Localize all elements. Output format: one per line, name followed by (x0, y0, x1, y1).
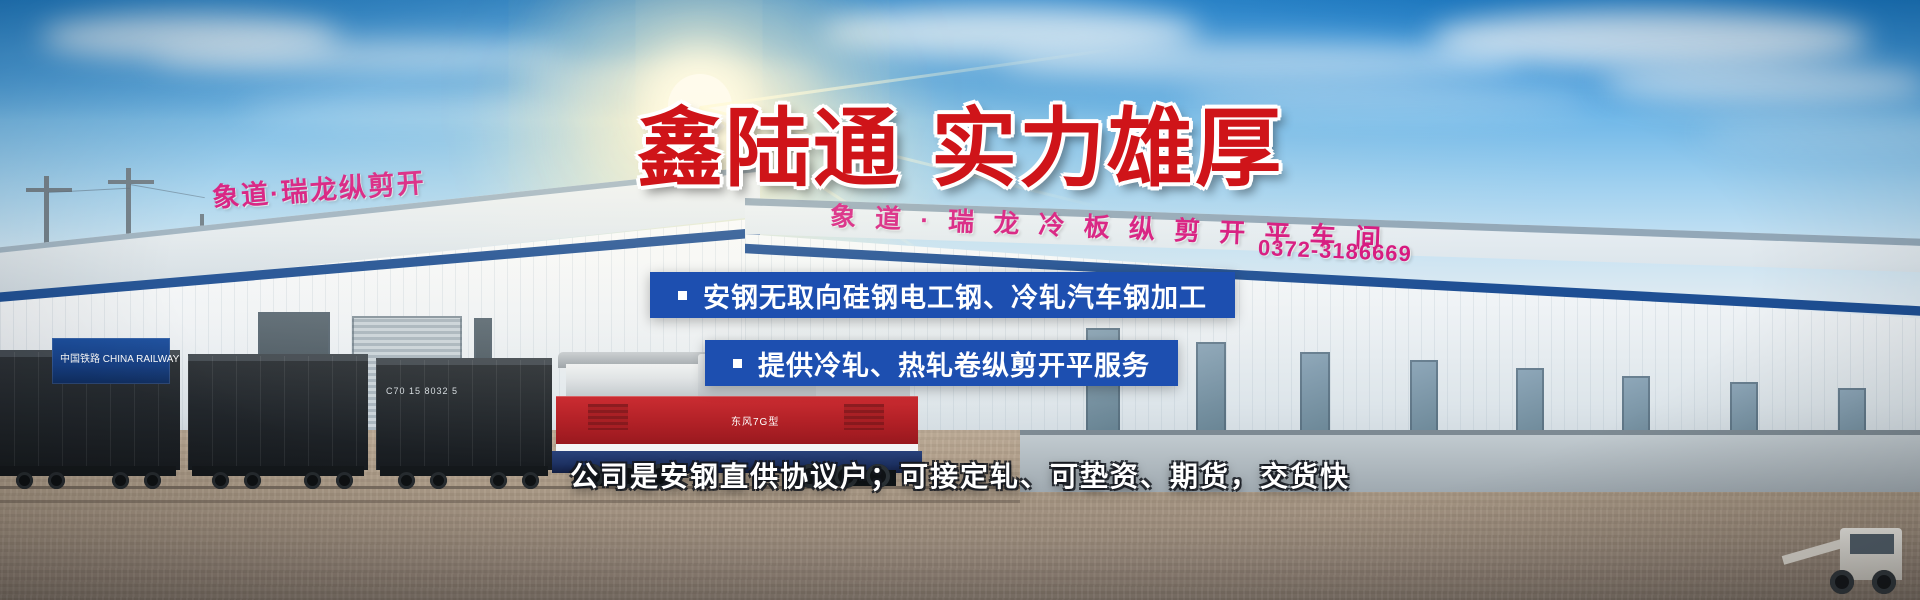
wagon-label: 中国铁路 CHINA RAILWAY (60, 350, 179, 365)
feature-callout-2-text: 提供冷轧、热轧卷纵剪开平服务 (758, 344, 1150, 383)
service-vehicle (1782, 516, 1902, 594)
feature-callout-1-text: 安钢无取向硅钢电工钢、冷轧汽车钢加工 (703, 276, 1207, 315)
feature-callout-1: 安钢无取向硅钢电工钢、冷轧汽车钢加工 (650, 272, 1235, 318)
locomotive-stripe (556, 444, 918, 451)
locomotive-number: 东风7G型 (731, 413, 779, 428)
page-title: 鑫陆通实力雄厚 (0, 106, 1920, 192)
locomotive-grille (844, 404, 884, 430)
headline-part-1: 鑫陆通 (637, 101, 901, 197)
feature-callout-2: 提供冷轧、热轧卷纵剪开平服务 (705, 340, 1178, 386)
vehicle-window (1850, 534, 1894, 554)
square-bullet-icon (678, 291, 687, 300)
cloud (520, 64, 820, 92)
cloud (150, 40, 570, 74)
wagon-label: C70 15 8032 5 (386, 386, 458, 396)
locomotive-grille (588, 404, 628, 430)
apron-edge (1020, 430, 1920, 435)
square-bullet-icon (733, 359, 742, 368)
rail-track (0, 500, 1020, 503)
banner-tagline: 公司是安钢直供协议户；可接定轧、可垫资、期货，交货快 (0, 455, 1920, 495)
cloud (1430, 10, 1870, 68)
headline-part-2: 实力雄厚 (931, 101, 1283, 197)
hero-banner: 象道·瑞龙纵剪开 象 道 · 瑞 龙 冷 板 纵 剪 开 平 车 间 0372-… (0, 0, 1920, 600)
cloud (1600, 62, 1920, 106)
